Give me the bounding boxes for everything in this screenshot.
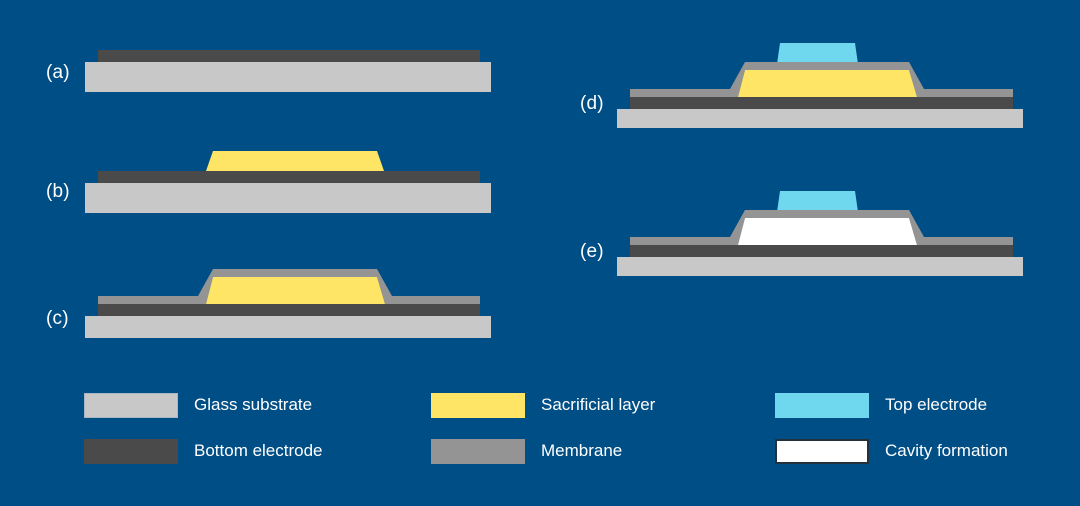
panel-label-e: (e) (580, 241, 604, 263)
panel-label-b: (b) (46, 181, 70, 203)
legend-swatch-sacrificial-layer (431, 393, 525, 418)
legend-swatch-cavity-formation (775, 439, 869, 464)
figure-canvas: (a) (b) (c) (d) (0, 0, 1080, 506)
legend-item-membrane: Membrane (431, 438, 622, 464)
glass-substrate-layer (85, 183, 491, 213)
legend-item-sacrificial-layer: Sacrificial layer (431, 392, 655, 418)
cavity-formation (738, 218, 917, 245)
legend-item-top-electrode: Top electrode (775, 392, 987, 418)
glass-substrate-layer (617, 257, 1023, 276)
panel-e-cross-section (612, 186, 1032, 276)
bottom-electrode-layer (98, 304, 480, 316)
sacrificial-layer (206, 151, 384, 171)
legend-swatch-top-electrode (775, 393, 869, 418)
legend-swatch-bottom-electrode (84, 439, 178, 464)
sacrificial-layer (206, 277, 385, 304)
legend-label-cavity-formation: Cavity formation (885, 441, 1008, 461)
panel-label-c: (c) (46, 308, 69, 330)
glass-substrate-layer (85, 316, 491, 338)
legend-swatch-glass-substrate (84, 393, 178, 418)
bottom-electrode-layer (98, 50, 480, 62)
panel-b-cross-section (80, 140, 500, 215)
panel-c-cross-section (80, 258, 500, 338)
legend-label-glass-substrate: Glass substrate (194, 395, 312, 415)
top-electrode-layer (777, 191, 858, 212)
legend-item-bottom-electrode: Bottom electrode (84, 438, 323, 464)
bottom-electrode-layer (630, 245, 1013, 257)
legend-item-glass-substrate: Glass substrate (84, 392, 312, 418)
glass-substrate-layer (85, 62, 491, 92)
panel-label-d: (d) (580, 93, 604, 115)
top-electrode-layer (777, 43, 858, 64)
legend-label-sacrificial-layer: Sacrificial layer (541, 395, 655, 415)
legend-label-bottom-electrode: Bottom electrode (194, 441, 323, 461)
legend-label-membrane: Membrane (541, 441, 622, 461)
panel-label-a: (a) (46, 62, 70, 84)
legend: Glass substrate Bottom electrode Sacrifi… (84, 392, 1024, 472)
legend-label-top-electrode: Top electrode (885, 395, 987, 415)
panel-a-cross-section (80, 40, 500, 100)
panel-d-cross-section (612, 38, 1032, 128)
legend-item-cavity-formation: Cavity formation (775, 438, 1008, 464)
legend-swatch-membrane (431, 439, 525, 464)
glass-substrate-layer (617, 109, 1023, 128)
sacrificial-layer (738, 70, 917, 97)
bottom-electrode-layer (98, 171, 480, 183)
bottom-electrode-layer (630, 97, 1013, 109)
